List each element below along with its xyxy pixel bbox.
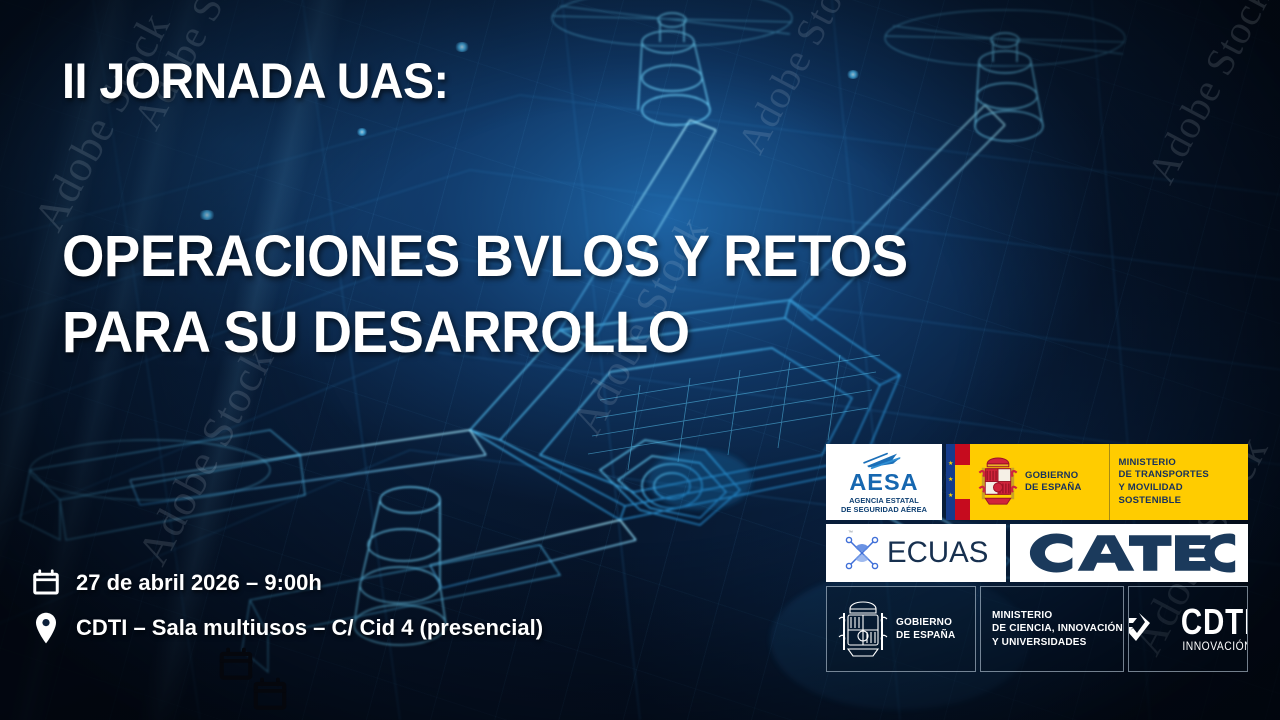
gobierno-line-1: GOBIERNO [1025,470,1082,482]
logo-row-3: GOBIERNO DE ESPAÑA MINISTERIO DE CIENCIA… [826,586,1248,672]
ministerio-line-1: MINISTERIO [992,609,1123,622]
aesa-tagline-line-2: DE SEGURIDAD AÉREA [841,506,927,515]
ministerio-transportes-text: MINISTERIO DE TRANSPORTES Y MOVILIDAD SO… [1119,457,1249,507]
logo-row-1: AESA AGENCIA ESTATAL DE SEGURIDAD AÉREA … [826,444,1248,520]
cdti-arrow-check-icon [1128,609,1158,649]
gobierno-espana-text: GOBIERNO DE ESPAÑA [896,616,955,642]
spain-coat-of-arms-icon [977,455,1019,510]
ministerio-line-1: MINISTERIO [1119,457,1249,470]
spain-flag-strip [955,444,970,520]
ministerio-line-3: Y UNIVERSIDADES [992,636,1123,649]
ministerio-line-2: DE TRANSPORTES [1119,469,1249,482]
ecuas-wordmark: ECUAS [887,538,988,568]
aesa-tagline: AGENCIA ESTATAL DE SEGURIDAD AÉREA [841,497,927,514]
cdti-text-group: CDTI INNOVACIÓN [1165,605,1249,653]
eu-star-icon: ★ [948,478,953,483]
logo-catec [1010,524,1248,582]
map-pin-icon [30,612,62,644]
flag-band-yellow [955,465,970,499]
gobierno-line-2: DE ESPAÑA [896,629,955,642]
aesa-acronym: AESA [849,471,918,494]
flag-band-red-top [955,444,970,465]
calendar-icon-artifact-2 [250,676,290,719]
poster-subtitle-line-1: OPERACIONES BVLOS Y RETOS [62,228,908,286]
spain-coat-of-arms-icon [837,598,889,660]
calendar-icon [30,568,62,598]
event-date-text: 27 de abril 2026 – 9:00h [76,570,322,596]
gobierno-espana-group: GOBIERNO DE ESPAÑA [970,444,1109,520]
gobierno-espana-text: GOBIERNO DE ESPAÑA [1025,470,1082,495]
logo-cdti: CDTI INNOVACIÓN [1128,586,1248,672]
logo-ecuas: ™ ECUAS [826,524,1006,582]
eu-flag-strip: ★ ★ ★ [946,444,955,520]
event-date-row: 27 de abril 2026 – 9:00h [30,568,322,598]
aesa-arrow-icon [861,451,907,470]
logo-row-2: ™ ECUAS [826,524,1248,582]
poster-subtitle-line-2: PARA SU DESARROLLO [62,304,690,362]
sponsor-logo-block: AESA AGENCIA ESTATAL DE SEGURIDAD AÉREA … [826,444,1248,672]
eu-star-icon: ★ [948,462,953,467]
event-location-row: CDTI – Sala multiusos – C/ Cid 4 (presen… [30,612,543,644]
ministerio-transportes-group: MINISTERIO DE TRANSPORTES Y MOVILIDAD SO… [1109,444,1249,520]
logo-aesa: AESA AGENCIA ESTATAL DE SEGURIDAD AÉREA [826,444,942,520]
gobierno-line-2: DE ESPAÑA [1025,482,1082,494]
eu-star-icon: ★ [948,494,953,499]
cdti-wordmark: CDTI [1180,605,1248,638]
ecuas-trademark: ™ [848,530,853,536]
ecuas-drone-x-icon [842,534,882,572]
flag-band-red-bottom [955,499,970,520]
logo-ministerio-ciencia: MINISTERIO DE CIENCIA, INNOVACIÓN Y UNIV… [980,586,1124,672]
ministerio-line-2: DE CIENCIA, INNOVACIÓN [992,622,1123,635]
ministerio-line-3: Y MOVILIDAD SOSTENIBLE [1119,482,1249,507]
logo-gobierno-transportes: ★ ★ ★ [946,444,1248,520]
event-location-text: CDTI – Sala multiusos – C/ Cid 4 (presen… [76,615,543,641]
catec-wordmark-icon [1014,530,1244,576]
ministerio-ciencia-text: MINISTERIO DE CIENCIA, INNOVACIÓN Y UNIV… [992,609,1123,649]
poster-title: II JORNADA UAS: [62,52,449,110]
logo-gobierno-ciencia: GOBIERNO DE ESPAÑA [826,586,976,672]
gobierno-line-1: GOBIERNO [896,616,955,629]
cdti-subtitle: INNOVACIÓN [1183,640,1248,653]
poster-canvas: Adobe Stock Adobe Stock Adobe Stock Adob… [0,0,1280,720]
